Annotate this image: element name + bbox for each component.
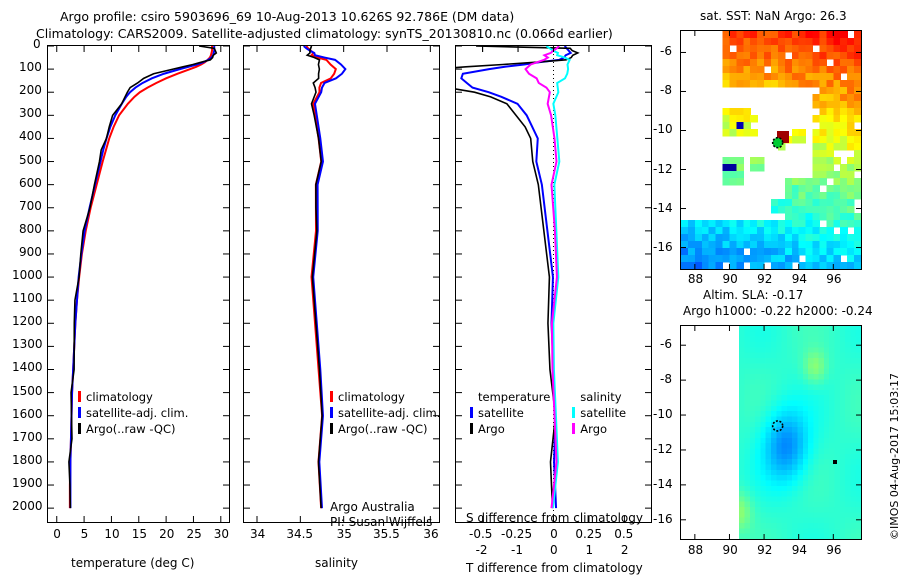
- sst-map-panel: [680, 30, 862, 270]
- sst-map-plot: [681, 31, 861, 269]
- legend-label: Argo(..raw -QC): [86, 422, 176, 436]
- sla-lon-tick-label: 88: [688, 543, 703, 557]
- depth-tick-label: 800: [19, 222, 42, 236]
- t-difference-tick-label: -2: [476, 543, 488, 557]
- legend-label: climatology: [86, 390, 153, 404]
- difference-temperature-axis-label: T difference from climatology: [466, 561, 643, 575]
- s-difference-tick-label: -0.5: [469, 527, 492, 541]
- sst-lon-tick-label: 92: [757, 272, 772, 286]
- legend-group-temperature: temperaturesatelliteArgo: [470, 390, 550, 437]
- legend-item: satellite: [572, 405, 626, 421]
- temperature-tick-label: 10: [104, 527, 119, 541]
- argo-program-note: Argo Australia: [330, 500, 415, 514]
- legend-label: Argo: [478, 422, 505, 436]
- legend-color-swatch: [572, 407, 575, 418]
- sst-lon-tick-label: 88: [688, 272, 703, 286]
- sst-lat-tick-label: -14: [653, 201, 673, 215]
- sla-lat-tick-label: -8: [660, 372, 672, 386]
- t-difference-tick-label: -1: [511, 543, 523, 557]
- sst-lon-tick-label: 90: [722, 272, 737, 286]
- difference-legend: temperaturesatelliteArgosalinitysatellit…: [470, 390, 626, 437]
- depth-tick-label: 1200: [12, 314, 43, 328]
- figure-title-line1: Argo profile: csiro 5903696_69 10-Aug-20…: [60, 9, 514, 24]
- sla-map-title-line1: Altim. SLA: -0.17: [703, 288, 803, 302]
- sla-lat-tick-label: -10: [653, 407, 673, 421]
- legend-item: climatology: [330, 389, 440, 405]
- legend-item: satellite-adj. clim.: [330, 405, 440, 421]
- depth-tick-label: 700: [19, 199, 42, 213]
- depth-tick-label: 900: [19, 245, 42, 259]
- difference-profile-panel: [455, 45, 652, 523]
- sst-map-title: sat. SST: NaN Argo: 26.3: [700, 9, 847, 23]
- temperature-tick-label: 0: [53, 527, 61, 541]
- depth-tick-label: 1600: [12, 407, 43, 421]
- depth-tick-label: 1100: [12, 291, 43, 305]
- depth-tick-label: 1800: [12, 453, 43, 467]
- depth-tick-label: 1500: [12, 384, 43, 398]
- temperature-tick-label: 15: [132, 527, 147, 541]
- sla-lon-tick-label: 90: [722, 543, 737, 557]
- s-difference-tick-label: -0.25: [501, 527, 532, 541]
- depth-tick-label: 200: [19, 83, 42, 97]
- sla-lat-tick-label: -6: [660, 337, 672, 351]
- legend-color-swatch: [572, 423, 575, 434]
- salinity-profile-panel: [243, 45, 440, 523]
- legend-label: satellite: [580, 406, 626, 420]
- temperature-profile-plot: [48, 46, 229, 522]
- temperature-legend: climatologysatellite-adj. clim.Argo(..ra…: [78, 389, 188, 437]
- temperature-axis-label: temperature (deg C): [71, 556, 194, 570]
- legend-color-swatch: [330, 407, 333, 418]
- t-difference-tick-label: 1: [585, 543, 593, 557]
- depth-tick-label: 1700: [12, 430, 43, 444]
- temperature-tick-label: 25: [186, 527, 201, 541]
- depth-tick-label: 400: [19, 129, 42, 143]
- legend-color-swatch: [330, 423, 333, 434]
- sla-lat-tick-label: -14: [653, 477, 673, 491]
- sst-lat-tick-label: -12: [653, 162, 673, 176]
- sla-lon-tick-label: 96: [826, 543, 841, 557]
- legend-color-swatch: [470, 407, 473, 418]
- temperature-profile-panel: [47, 45, 230, 523]
- temperature-tick-label: 20: [159, 527, 174, 541]
- salinity-axis-label: salinity: [315, 556, 358, 570]
- salinity-tick-label: 35.5: [373, 527, 400, 541]
- sla-lat-tick-label: -16: [653, 512, 673, 526]
- depth-tick-label: 1900: [12, 476, 43, 490]
- legend-item: satellite-adj. clim.: [78, 405, 188, 421]
- temperature-tick-label: 5: [81, 527, 89, 541]
- depth-tick-label: 100: [19, 60, 42, 74]
- salinity-tick-label: 34.5: [286, 527, 313, 541]
- sst-lat-tick-label: -16: [653, 240, 673, 254]
- sla-lon-tick-label: 94: [792, 543, 807, 557]
- legend-label: satellite-adj. clim.: [86, 406, 188, 420]
- legend-color-swatch: [330, 391, 333, 402]
- salinity-legend: climatologysatellite-adj. clim.Argo(..ra…: [330, 389, 440, 437]
- difference-salinity-axis-label: S difference from climatology: [466, 511, 643, 525]
- sla-map-plot: [681, 326, 861, 539]
- sst-lat-tick-label: -10: [653, 122, 673, 136]
- salinity-tick-label: 36: [423, 527, 438, 541]
- temperature-tick-label: 30: [214, 527, 229, 541]
- t-difference-tick-label: 2: [621, 543, 629, 557]
- depth-tick-label: 1000: [12, 268, 43, 282]
- legend-label: satellite: [478, 406, 524, 420]
- sst-lon-tick-label: 94: [792, 272, 807, 286]
- s-difference-tick-label: 0: [550, 527, 558, 541]
- imos-credit: ©IMOS 04-Aug-2017 15:03:17: [888, 373, 900, 540]
- depth-tick-label: 600: [19, 176, 42, 190]
- legend-item: climatology: [78, 389, 188, 405]
- sst-lon-tick-label: 96: [826, 272, 841, 286]
- legend-item: Argo: [572, 421, 626, 437]
- sla-lon-tick-label: 92: [757, 543, 772, 557]
- difference-profile-plot: [456, 46, 651, 522]
- sla-lat-tick-label: -12: [653, 442, 673, 456]
- figure-title-line2: Climatology: CARS2009. Satellite-adjuste…: [36, 26, 613, 41]
- sla-map-panel: [680, 325, 862, 540]
- depth-tick-label: 0: [33, 37, 41, 51]
- sst-lat-tick-label: -8: [660, 83, 672, 97]
- depth-tick-label: 300: [19, 106, 42, 120]
- legend-color-swatch: [78, 391, 81, 402]
- depth-tick-label: 1400: [12, 360, 43, 374]
- legend-item: Argo: [470, 421, 550, 437]
- sla-map-title-line2: Argo h1000: -0.22 h2000: -0.24: [683, 304, 873, 318]
- sst-lat-tick-label: -6: [660, 44, 672, 58]
- legend-color-swatch: [78, 407, 81, 418]
- depth-tick-label: 2000: [12, 499, 43, 513]
- salinity-profile-plot: [244, 46, 439, 522]
- legend-group-header: salinity: [580, 390, 626, 405]
- legend-item: satellite: [470, 405, 550, 421]
- legend-item: Argo(..raw -QC): [330, 421, 440, 437]
- legend-label: climatology: [338, 390, 405, 404]
- s-difference-tick-label: 0.5: [614, 527, 633, 541]
- legend-label: Argo(..raw -QC): [338, 422, 428, 436]
- legend-color-swatch: [78, 423, 81, 434]
- legend-group-header: temperature: [478, 390, 550, 405]
- depth-tick-label: 1300: [12, 337, 43, 351]
- salinity-tick-label: 35: [337, 527, 352, 541]
- legend-color-swatch: [470, 423, 473, 434]
- legend-label: satellite-adj. clim.: [338, 406, 440, 420]
- s-difference-tick-label: 0.25: [575, 527, 602, 541]
- legend-group-salinity: salinitysatelliteArgo: [572, 390, 626, 437]
- depth-tick-label: 500: [19, 153, 42, 167]
- t-difference-tick-label: 0: [550, 543, 558, 557]
- legend-label: Argo: [580, 422, 607, 436]
- salinity-tick-label: 34: [250, 527, 265, 541]
- legend-item: Argo(..raw -QC): [78, 421, 188, 437]
